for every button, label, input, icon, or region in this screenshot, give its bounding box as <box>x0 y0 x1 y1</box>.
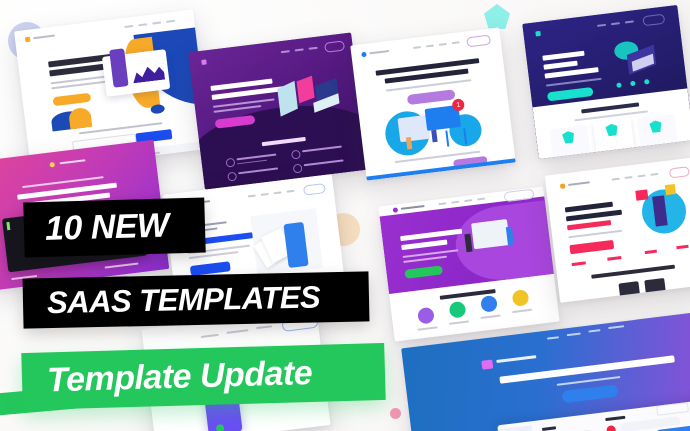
nav-item <box>426 44 434 47</box>
nav-cta-button[interactable] <box>303 183 326 196</box>
nav-cta-button[interactable] <box>669 166 690 178</box>
pink-dot <box>390 408 401 419</box>
step-label <box>481 315 501 319</box>
whiteboard-art <box>471 219 510 249</box>
step-icon <box>512 289 530 307</box>
brand-icon <box>481 360 493 370</box>
cyan-pentagon <box>484 4 510 29</box>
poster-canvas: 1 <box>0 0 690 431</box>
template-card-notifications[interactable]: 1 <box>350 27 515 180</box>
headline-block-10-new: 10 NEW <box>23 197 205 257</box>
bottom-accent-bar <box>366 158 515 180</box>
nav-item <box>650 173 658 176</box>
nav-item <box>248 195 256 198</box>
card-headline <box>566 210 622 222</box>
nav-item <box>567 333 581 337</box>
ladder-art <box>445 128 467 146</box>
step-icon <box>417 307 435 325</box>
nav-item <box>588 329 600 332</box>
step-label <box>512 309 532 313</box>
step-label <box>449 320 469 324</box>
footer-text <box>105 263 139 269</box>
nav-item <box>439 43 447 46</box>
stat-value <box>676 245 688 249</box>
section-title <box>591 265 675 279</box>
logo-icon <box>393 207 399 213</box>
nav-item <box>452 41 460 44</box>
nav-item <box>413 46 421 49</box>
nav-item <box>612 178 620 181</box>
template-card-video[interactable] <box>188 33 368 190</box>
headline-block-saas-templates: SAAS TEMPLATES <box>23 271 370 328</box>
card-art <box>665 184 676 195</box>
brand-label <box>568 181 590 186</box>
nav-item <box>637 174 645 177</box>
nav-item <box>261 193 269 196</box>
notification-badge: 1 <box>452 98 465 111</box>
status-dot <box>216 424 225 431</box>
nav-item <box>608 325 624 329</box>
nav-item <box>451 201 459 204</box>
nav-item <box>286 190 294 193</box>
card-art <box>635 189 648 200</box>
logo-icon <box>361 52 367 58</box>
nav-item <box>226 329 248 334</box>
step-label <box>418 326 438 330</box>
nav-item <box>273 191 281 194</box>
template-card-cloud[interactable] <box>522 5 690 159</box>
logo-icon <box>25 37 31 43</box>
brand-label <box>59 159 85 164</box>
cta-button[interactable] <box>407 89 456 105</box>
get-started-button[interactable] <box>562 384 619 403</box>
cta-button[interactable] <box>569 240 614 254</box>
brand-label <box>401 205 425 210</box>
nav-item <box>201 334 219 338</box>
logo-icon <box>49 162 55 168</box>
logo-icon <box>535 31 541 37</box>
stat-value <box>607 256 621 261</box>
nav-cta-button[interactable] <box>466 35 491 48</box>
phone-mockup <box>618 281 640 297</box>
phone-mockup <box>644 278 666 294</box>
headline-text-10-new: 10 NEW <box>44 206 169 248</box>
card-headline-highlight <box>567 220 611 230</box>
card-subtext <box>568 230 622 239</box>
nav-item <box>477 198 485 201</box>
brand-name <box>496 355 536 363</box>
headline-text-saas-templates: SAAS TEMPLATES <box>47 279 321 321</box>
headline-block-template-update: Template Update <box>21 343 385 410</box>
template-card-seo[interactable] <box>378 186 559 341</box>
step-icon <box>449 301 467 319</box>
brand-label <box>369 50 389 54</box>
person-art <box>431 130 437 143</box>
stat-value <box>645 250 657 254</box>
step-icon <box>480 295 498 313</box>
nav-item <box>256 325 272 329</box>
stat-value <box>572 261 586 266</box>
nav-item <box>547 336 559 339</box>
nav-item <box>464 199 472 202</box>
nav-item <box>625 176 633 179</box>
logo-icon <box>560 183 566 189</box>
template-card-social[interactable] <box>545 157 690 303</box>
headline-text-template-update: Template Update <box>47 354 313 400</box>
logo-icon <box>201 59 207 65</box>
nav-item <box>438 202 446 205</box>
